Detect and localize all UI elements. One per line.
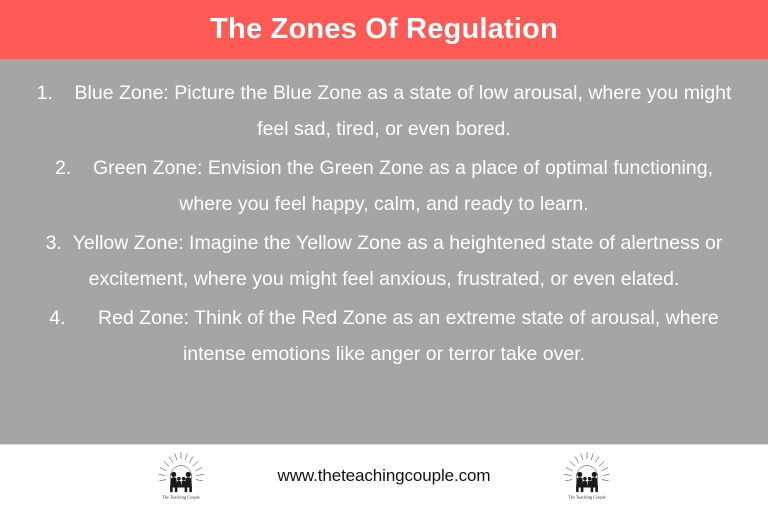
zones-list: 1. Blue Zone: Picture the Blue Zone as a… bbox=[18, 75, 750, 372]
website-url[interactable]: www.theteachingcouple.com bbox=[278, 466, 491, 486]
list-item-spacer bbox=[66, 307, 99, 329]
list-item: 2. Green Zone: Envision the Green Zone a… bbox=[18, 150, 750, 222]
page-title: The Zones Of Regulation bbox=[198, 15, 570, 44]
list-item-spacer bbox=[71, 157, 93, 179]
list-item-spacer bbox=[62, 232, 73, 254]
list-item-marker: 2. bbox=[55, 157, 71, 179]
poster: The Zones Of Regulation 1. Blue Zone: Pi… bbox=[0, 0, 768, 512]
list-item-text: Blue Zone: Picture the Blue Zone as a st… bbox=[75, 82, 732, 140]
teaching-couple-logo-icon: The Teaching Couple bbox=[154, 450, 208, 502]
logo-caption: The Teaching Couple bbox=[162, 494, 200, 499]
content-area: 1. Blue Zone: Picture the Blue Zone as a… bbox=[0, 59, 768, 444]
logo-caption: The Teaching Couple bbox=[569, 494, 607, 499]
list-item-spacer bbox=[53, 82, 75, 104]
list-item: 4. Red Zone: Think of the Red Zone as an… bbox=[18, 300, 750, 372]
list-item-marker: 1. bbox=[37, 82, 53, 104]
list-item-marker: 4. bbox=[49, 307, 65, 329]
footer: The Teaching Couple www.theteachingcoupl… bbox=[0, 444, 768, 512]
header-band: The Zones Of Regulation bbox=[0, 0, 768, 59]
list-item: 1. Blue Zone: Picture the Blue Zone as a… bbox=[18, 75, 750, 147]
list-item-text: Green Zone: Envision the Green Zone as a… bbox=[93, 157, 713, 215]
teaching-couple-logo-icon: The Teaching Couple bbox=[560, 450, 614, 502]
list-item-text: Red Zone: Think of the Red Zone as an ex… bbox=[98, 307, 719, 365]
list-item: 3. Yellow Zone: Imagine the Yellow Zone … bbox=[18, 225, 750, 297]
list-item-marker: 3. bbox=[46, 232, 62, 254]
list-item-text: Yellow Zone: Imagine the Yellow Zone as … bbox=[73, 232, 723, 290]
